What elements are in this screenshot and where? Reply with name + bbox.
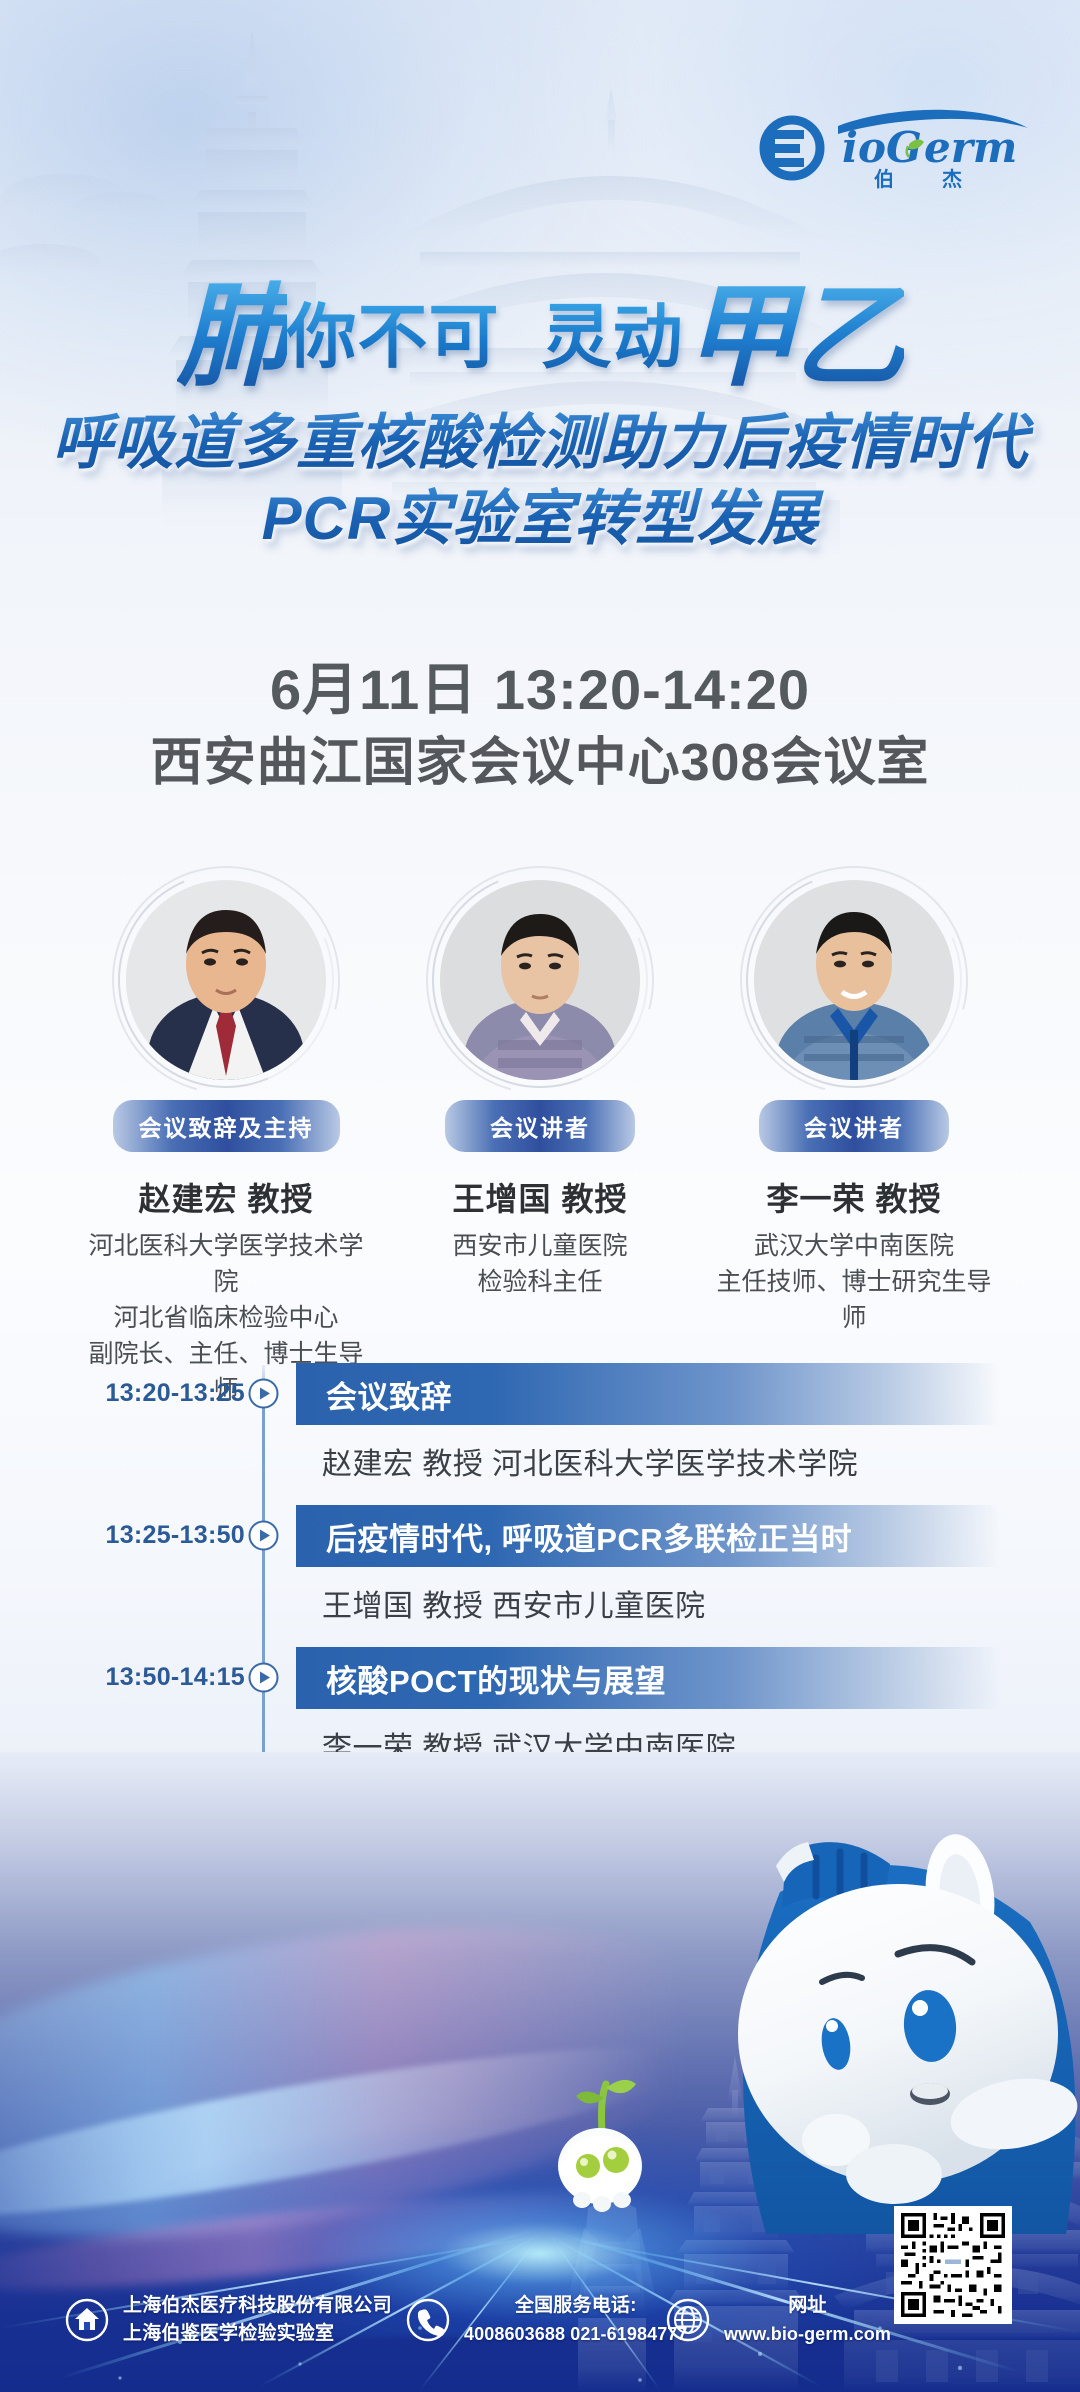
speaker-name: 王增国 教授: [395, 1174, 685, 1220]
agenda-title-bar: 核酸POCT的现状与展望: [296, 1647, 1000, 1709]
agenda-title: 后疫情时代, 呼吸道PCR多联检正当时: [296, 1514, 852, 1559]
speaker-org: 武汉大学中南医院 主任技师、博士研究生导师: [709, 1228, 999, 1336]
subtitle-line-2: PCR实验室转型发展: [0, 481, 1080, 557]
footer-web-group: 网址 www.bio-germ.com: [665, 2292, 891, 2348]
subtitle-block: 呼吸道多重核酸检测助力后疫情时代 PCR实验室转型发展: [0, 405, 1080, 557]
avatar-photo: [440, 880, 640, 1080]
avatar-photo: [126, 880, 326, 1080]
footer-company-line-1: 上海伯杰医疗科技股份有限公司: [123, 2292, 392, 2320]
agenda-speaker: 王增国 教授 西安市儿童医院: [322, 1581, 706, 1625]
headline-slogan: 肺你不可灵动甲乙: [0, 246, 1080, 408]
phone-icon: [405, 2297, 451, 2343]
agenda-speaker: 赵建宏 教授 河北医科大学医学技术学院: [322, 1439, 858, 1483]
play-circle-icon: [247, 1661, 280, 1694]
speaker-org-line: 检验科主任: [395, 1264, 685, 1300]
speaker-org-line: 河北省临床检验中心: [81, 1300, 371, 1336]
speaker-org-line: 河北医科大学医学技术学院: [81, 1228, 371, 1300]
home-icon: [64, 2297, 110, 2343]
footer-web-label: 网址: [724, 2292, 891, 2320]
agenda-title: 核酸POCT的现状与展望: [296, 1656, 666, 1701]
footer-bar: 上海伯杰医疗科技股份有限公司 上海伯鉴医学检验实验室 全国服务电话: 40086…: [0, 2286, 1080, 2364]
headline-part-4: 甲乙: [684, 271, 904, 402]
logo-cn-1: 伯: [874, 167, 894, 190]
svg-text:erm: erm: [924, 123, 1017, 172]
speaker-list: 会议致辞及主持 赵建宏 教授 河北医科大学医学技术学院 河北省临床检验中心 副院…: [0, 880, 1080, 1408]
speaker-name: 赵建宏 教授: [81, 1174, 371, 1220]
agenda-time: 13:20-13:25: [70, 1379, 245, 1408]
headline-part-2: 你不可: [287, 298, 500, 376]
speaker-org-line: 西安市儿童医院: [395, 1228, 685, 1264]
footer-phone-text: 全国服务电话: 4008603688 021-61984777: [464, 2292, 688, 2348]
play-circle-icon: [247, 1377, 280, 1410]
footer-company-line-2: 上海伯鉴医学检验实验室: [123, 2320, 392, 2348]
agenda-row: 13:25-13:50 后疫情时代, 呼吸道PCR多联检正当时 王增国 教授 西…: [0, 1497, 1080, 1639]
agenda-time: 13:50-14:15: [70, 1663, 245, 1692]
agenda-title-bar: 后疫情时代, 呼吸道PCR多联检正当时: [296, 1505, 1000, 1567]
avatar: [126, 880, 326, 1080]
event-venue: 西安曲江国家会议中心308会议室: [0, 720, 1080, 795]
event-datetime: 6月11日 13:20-14:20: [0, 645, 1080, 726]
footer-company-text: 上海伯杰医疗科技股份有限公司 上海伯鉴医学检验实验室: [123, 2292, 392, 2348]
avatar-photo: [754, 880, 954, 1080]
avatar: [440, 880, 640, 1080]
speaker-org-line: 武汉大学中南医院: [709, 1228, 999, 1264]
speaker-role-badge: 会议讲者: [445, 1100, 635, 1152]
subtitle-line-1: 呼吸道多重核酸检测助力后疫情时代: [0, 405, 1080, 481]
speaker-org: 西安市儿童医院 检验科主任: [395, 1228, 685, 1300]
rabbit-mascot: [630, 1822, 1080, 2242]
speaker-role-badge: 会议讲者: [759, 1100, 949, 1152]
footer-phone-numbers: 4008603688 021-61984777: [464, 2320, 688, 2348]
agenda-row: 13:20-13:25 会议致辞 赵建宏 教授 河北医科大学医学技术学院: [0, 1355, 1080, 1497]
agenda-time: 13:25-13:50: [70, 1521, 245, 1550]
footer-company-group: 上海伯杰医疗科技股份有限公司 上海伯鉴医学检验实验室: [64, 2292, 392, 2348]
footer-web-text: 网址 www.bio-germ.com: [724, 2292, 891, 2348]
headline-part-1: 肺: [177, 271, 287, 402]
speaker-name: 李一荣 教授: [709, 1174, 999, 1220]
footer-phone-label: 全国服务电话:: [464, 2292, 688, 2320]
agenda-title-bar: 会议致辞: [296, 1363, 1000, 1425]
globe-icon: [665, 2297, 711, 2343]
speaker-card: 会议讲者 李一荣 教授 武汉大学中南医院 主任技师、博士研究生导师: [709, 880, 999, 1408]
speaker-card: 会议致辞及主持 赵建宏 教授 河北医科大学医学技术学院 河北省临床检验中心 副院…: [81, 880, 371, 1408]
avatar: [754, 880, 954, 1080]
logo-cn-2: 杰: [942, 167, 962, 190]
headline-part-3: 灵动: [542, 298, 684, 376]
play-circle-icon: [247, 1519, 280, 1552]
speaker-org-line: 主任技师、博士研究生导师: [709, 1264, 999, 1336]
conference-poster: ioG erm 伯 杰 肺你不可灵动甲乙 呼吸道多重核酸检测助力后疫情时代 PC…: [0, 0, 1080, 2392]
biogerm-logo: ioG erm 伯 杰: [746, 98, 1046, 190]
footer-web-url[interactable]: www.bio-germ.com: [724, 2320, 891, 2348]
agenda-title: 会议致辞: [296, 1372, 452, 1417]
speaker-role-badge: 会议致辞及主持: [113, 1100, 340, 1152]
speaker-card: 会议讲者 王增国 教授 西安市儿童医院 检验科主任: [395, 880, 685, 1408]
footer-phone-group: 全国服务电话: 4008603688 021-61984777: [405, 2292, 688, 2348]
